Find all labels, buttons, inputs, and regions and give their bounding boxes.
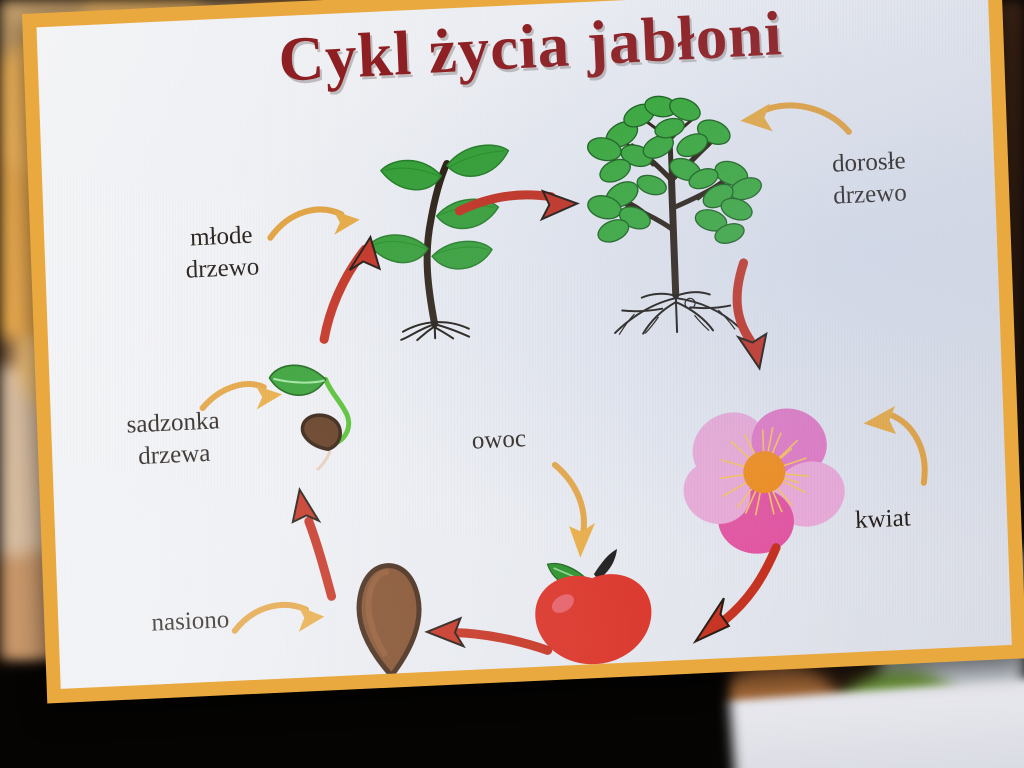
- cycle-arrow-young-to-adult: [454, 177, 586, 238]
- stage-label-sadzonka-drzewa: sadzonka drzewa: [93, 404, 255, 475]
- label-arrow-owoc: [541, 456, 615, 569]
- presentation-slide: Cykl życia jabłoni: [22, 0, 1024, 704]
- stage-label-owoc: owoc: [443, 422, 554, 459]
- illustration-kwiat: [676, 390, 852, 558]
- label-arrow-doroslе-drzewo: [736, 92, 858, 148]
- stage-label-mlode-drzewo: młode drzewo: [156, 218, 288, 288]
- cycle-arrow-apple-to-seed: [420, 604, 552, 665]
- cycle-arrow-adult-to-flower: [717, 254, 801, 378]
- photographed-slide-screenshot: Cykl życia jabłoni: [0, 0, 1024, 768]
- cycle-arrow-flower-to-apple: [664, 541, 788, 651]
- slide-canvas: Cykl życia jabłoni: [36, 0, 1011, 689]
- stage-label-kwiat: kwiat: [855, 499, 996, 537]
- stage-label-nasiono: nasiono: [120, 603, 261, 641]
- stage-label-doroslе-drzewo: dorosłe drzewo: [831, 141, 1003, 213]
- label-arrow-kwiat: [829, 398, 943, 503]
- cycle-arrow-seed-to-seedling: [283, 465, 368, 604]
